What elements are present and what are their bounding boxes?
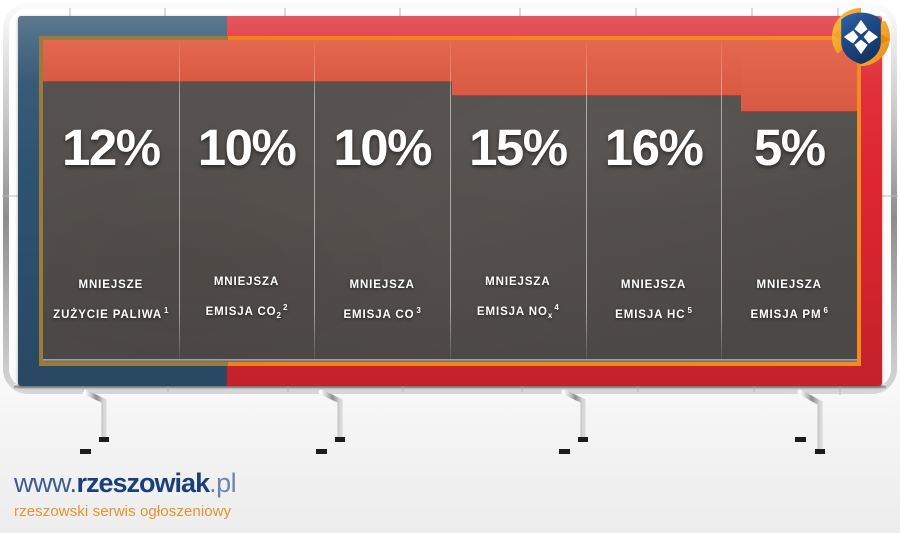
stat-label-line1: MNIEJSZA [450, 270, 586, 295]
stat-column-co2: 10% MNIEJSZA EMISJA CO22 [179, 40, 315, 362]
stat-label-line2: EMISJA PM6 [721, 298, 857, 328]
stat-percent: 5% [754, 122, 825, 173]
stat-label: MNIEJSZA EMISJA CO3 [314, 273, 450, 328]
stat-footnote: 1 [164, 306, 168, 315]
artwork-background: 12% MNIEJSZE ZUŻYCIE PALIWA1 10% MNIEJSZ… [43, 40, 857, 362]
stat-column-nox: 15% MNIEJSZA EMISJA NOx4 [450, 40, 586, 362]
stat-label-line2: EMISJA CO3 [314, 298, 450, 328]
stat-label: MNIEJSZA EMISJA HC5 [586, 273, 722, 328]
stat-label-line2: EMISJA CO22 [179, 295, 315, 328]
stat-column-hc: 16% MNIEJSZA EMISJA HC5 [586, 40, 722, 362]
stat-column-pm: 5% MNIEJSZA EMISJA PM6 [721, 40, 857, 362]
wordmark-brand: rzeszowiak [77, 468, 210, 498]
stat-percent: 15% [469, 122, 567, 173]
wordmark-tagline: rzeszowski serwis ogłoszeniowy [14, 503, 236, 520]
stat-footnote: 6 [823, 306, 827, 315]
stat-label-line1: MNIEJSZA [586, 273, 722, 298]
artwork-bottom-highlight [43, 359, 857, 362]
stat-label: MNIEJSZE ZUŻYCIE PALIWA1 [43, 273, 179, 328]
stat-percent: 16% [605, 122, 703, 173]
stat-label-line2: EMISJA HC5 [586, 298, 722, 328]
stat-footnote: 3 [416, 306, 420, 315]
stat-label-line1: MNIEJSZE [43, 273, 179, 298]
wordmark-line: www.rzeszowiak.pl [14, 470, 236, 497]
rzeszowiak-logo-badge[interactable] [828, 4, 894, 70]
stat-label-line1: MNIEJSZA [179, 270, 315, 295]
stat-subscript: 2 [277, 311, 281, 320]
stat-column-co: 10% MNIEJSZA EMISJA CO3 [314, 40, 450, 362]
billboard-inner-keyline: 12% MNIEJSZE ZUŻYCIE PALIWA1 10% MNIEJSZ… [39, 36, 861, 366]
stat-label: MNIEJSZA EMISJA NOx4 [450, 270, 586, 328]
stat-subscript: x [548, 311, 552, 320]
wordmark-www: www. [14, 468, 77, 498]
stat-percent: 10% [198, 122, 296, 173]
site-wordmark[interactable]: www.rzeszowiak.pl rzeszowski serwis ogło… [14, 470, 236, 520]
stat-percent: 10% [333, 122, 431, 173]
statistic-columns: 12% MNIEJSZE ZUŻYCIE PALIWA1 10% MNIEJSZ… [43, 40, 857, 362]
stat-label-line2: ZUŻYCIE PALIWA1 [43, 298, 179, 328]
stat-column-fuel: 12% MNIEJSZE ZUŻYCIE PALIWA1 [43, 40, 179, 362]
stat-label-line1: MNIEJSZA [721, 273, 857, 298]
stat-footnote: 4 [554, 303, 558, 312]
stat-label: MNIEJSZA EMISJA PM6 [721, 273, 857, 328]
stat-label-line2: EMISJA NOx4 [450, 295, 586, 328]
stat-percent: 12% [62, 122, 160, 173]
billboard-artwork-area: 12% MNIEJSZE ZUŻYCIE PALIWA1 10% MNIEJSZ… [43, 40, 857, 362]
stat-label-line1: MNIEJSZA [314, 273, 450, 298]
stat-footnote: 2 [283, 303, 287, 312]
stat-label: MNIEJSZA EMISJA CO22 [179, 270, 315, 328]
wordmark-tld: .pl [209, 468, 236, 498]
billboard: 12% MNIEJSZE ZUŻYCIE PALIWA1 10% MNIEJSZ… [18, 16, 882, 386]
stat-footnote: 5 [687, 306, 691, 315]
